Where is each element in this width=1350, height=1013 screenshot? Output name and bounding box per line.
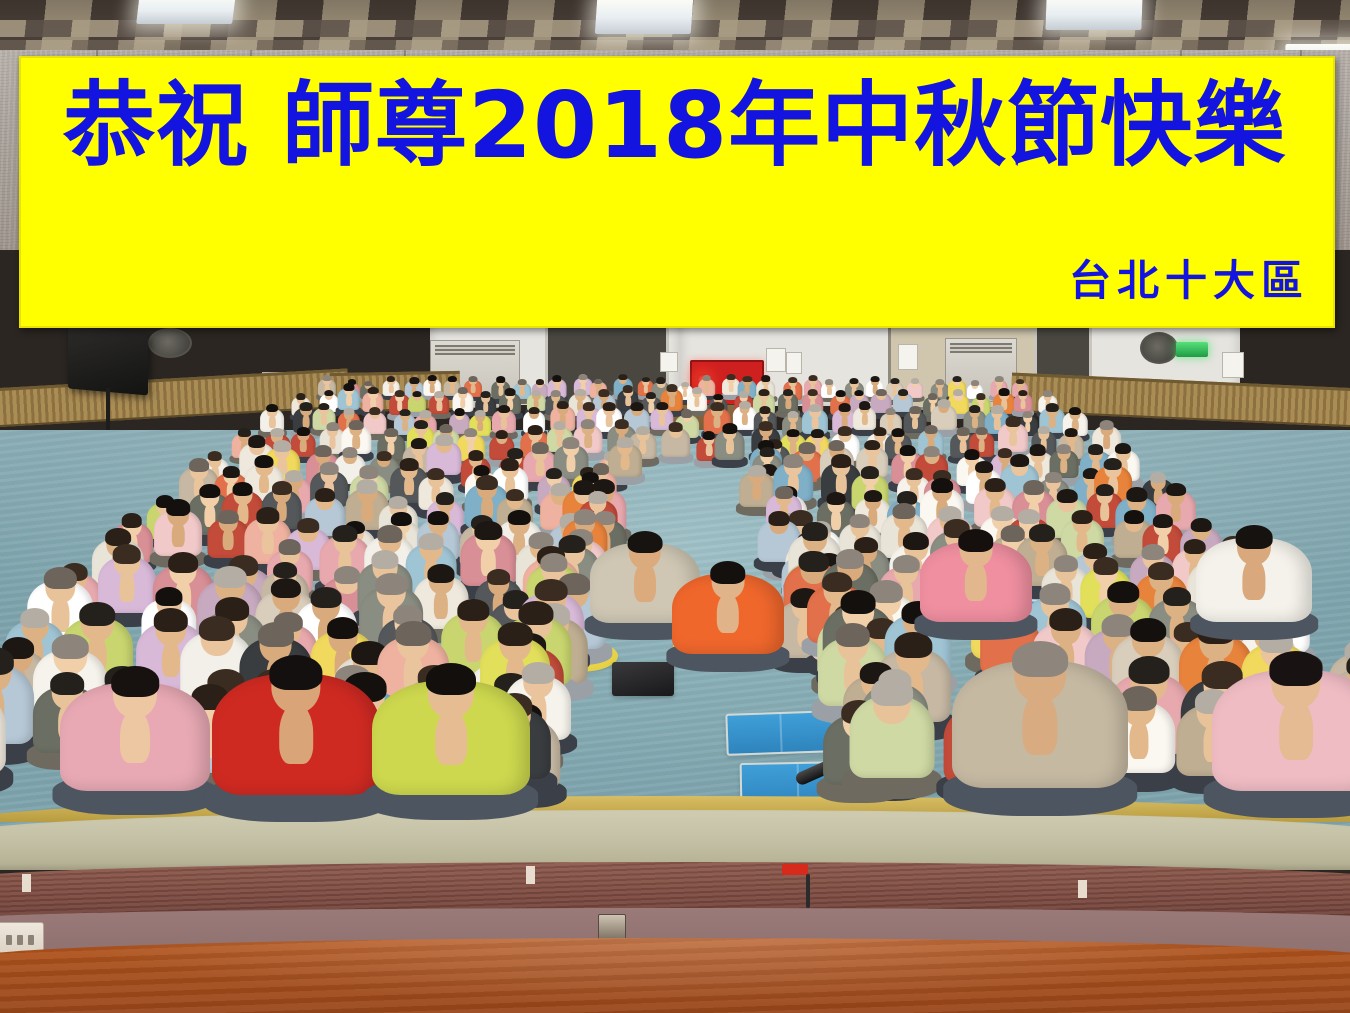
praying-hands xyxy=(706,443,713,457)
person-hair xyxy=(413,391,422,397)
person-hair xyxy=(579,374,588,380)
person-hair xyxy=(864,490,882,502)
person-hair xyxy=(1038,426,1050,435)
person-hair xyxy=(427,564,454,583)
person-hair xyxy=(562,437,579,449)
person-hair xyxy=(893,503,916,519)
person-hair xyxy=(426,663,476,696)
person-hair xyxy=(788,411,799,418)
person-hair xyxy=(436,434,453,446)
person-hair xyxy=(758,389,769,397)
person-hair xyxy=(218,510,238,524)
person-hair xyxy=(1006,416,1021,426)
person-hair xyxy=(536,379,544,385)
person-hair xyxy=(656,402,668,410)
person-hair xyxy=(809,404,822,413)
person-hair xyxy=(898,389,908,396)
person-hair xyxy=(255,455,274,468)
person-hair xyxy=(836,623,871,647)
person-hair xyxy=(937,399,950,408)
person-hair xyxy=(248,435,266,447)
person-hair xyxy=(528,425,542,435)
person-hair xyxy=(850,514,871,528)
person-hair xyxy=(411,438,427,449)
person-hair xyxy=(1012,641,1068,677)
stage-concrete-lip xyxy=(0,810,1350,870)
person-hair xyxy=(783,389,793,396)
praying-hands xyxy=(729,382,734,392)
praying-hands xyxy=(1129,719,1148,759)
person-hair xyxy=(710,561,745,584)
person-hair xyxy=(1065,428,1078,437)
foreground-man-back-view xyxy=(952,631,1128,816)
person-hair xyxy=(761,375,771,382)
person-hair xyxy=(1023,480,1045,495)
person-hair xyxy=(976,393,985,399)
person-seated xyxy=(850,662,935,800)
person-hair xyxy=(357,479,378,494)
person-hair xyxy=(199,616,235,641)
person-hair xyxy=(189,458,209,472)
greeting-banner: 恭祝 師尊2018年中秋節快樂 台北十大區 xyxy=(19,56,1335,328)
person-hair xyxy=(1269,651,1322,686)
person-hair xyxy=(871,376,880,382)
person-hair xyxy=(1054,555,1078,572)
praying-hands xyxy=(965,561,987,601)
person-hair xyxy=(349,420,364,430)
person-hair xyxy=(985,478,1006,492)
person-hair xyxy=(299,402,312,411)
person-hair xyxy=(1029,524,1055,542)
praying-hands xyxy=(279,703,313,763)
person-hair xyxy=(623,385,633,392)
person-hair xyxy=(1166,483,1186,497)
praying-hands xyxy=(1242,558,1265,600)
person-hair xyxy=(496,376,506,383)
person-hair xyxy=(506,489,524,501)
person-hair xyxy=(272,481,292,495)
person-hair xyxy=(1126,487,1147,502)
person-hair xyxy=(400,458,419,471)
power-cord xyxy=(806,874,810,908)
outlet-slot xyxy=(28,935,34,945)
person-hair xyxy=(269,655,322,690)
person-hair xyxy=(827,492,846,505)
person-hair xyxy=(464,428,478,437)
person-hair xyxy=(615,419,629,429)
person-hair xyxy=(999,388,1010,395)
person-hair xyxy=(788,377,798,384)
person-hair xyxy=(876,389,886,396)
person-hair xyxy=(435,391,445,398)
person-hair xyxy=(1017,379,1025,384)
aisle-woman-rose-shirt xyxy=(920,522,1032,640)
person-hair xyxy=(1057,489,1078,503)
person-hair xyxy=(581,419,595,429)
person-hair xyxy=(831,454,851,468)
person-hair xyxy=(1049,608,1082,631)
person-hair xyxy=(394,390,405,397)
person-hair xyxy=(603,402,616,411)
praying-hands xyxy=(120,709,150,763)
person-hair xyxy=(599,389,610,397)
person-hair xyxy=(748,465,766,477)
person-hair xyxy=(583,402,595,411)
person-hair xyxy=(232,482,253,497)
person-hair xyxy=(324,390,333,396)
aisle-woman-orange-shirt xyxy=(672,554,784,672)
person-hair xyxy=(1010,454,1030,468)
person-hair xyxy=(957,427,970,436)
person-hair xyxy=(594,379,602,385)
person-hair xyxy=(1108,581,1140,603)
person-hair xyxy=(899,445,916,456)
person-hair xyxy=(1018,390,1027,396)
person-hair xyxy=(861,466,879,479)
person-hair xyxy=(111,666,159,697)
red-cable-clip xyxy=(782,864,808,875)
person-hair xyxy=(556,401,568,410)
person-hair xyxy=(1069,407,1081,415)
person-hair xyxy=(498,622,532,646)
person-hair xyxy=(168,552,198,573)
person-hair xyxy=(855,390,864,396)
person-hair xyxy=(1130,618,1166,643)
aisle-man-white-shirt xyxy=(1196,518,1312,640)
person-hair xyxy=(410,377,419,383)
banner-subtitle: 台北十大區 xyxy=(1069,247,1309,308)
person-hair xyxy=(969,405,980,413)
person-hair xyxy=(1236,525,1273,549)
person-hair xyxy=(758,421,772,431)
person-hair xyxy=(871,677,913,706)
person-hair xyxy=(931,478,953,493)
person-hair xyxy=(739,401,751,409)
wall-tab xyxy=(22,874,31,892)
person-hair xyxy=(760,406,771,414)
person-hair xyxy=(1099,420,1114,430)
person-hair xyxy=(387,376,395,382)
praying-hands xyxy=(725,437,733,454)
person-hair xyxy=(504,388,515,396)
person-hair xyxy=(1046,403,1059,412)
foreground-man-red-shirt xyxy=(212,645,380,822)
screenshot-root: 恭祝 師尊2018年中秋節快樂 台北十大區 xyxy=(0,0,1350,1013)
person-hair xyxy=(1072,510,1093,524)
person-hair xyxy=(807,389,818,396)
person-hair xyxy=(711,402,724,411)
person-hair xyxy=(952,376,961,382)
person-hair xyxy=(396,621,431,645)
person-hair xyxy=(52,634,89,659)
person-hair xyxy=(838,403,851,412)
person-hair xyxy=(1096,484,1114,497)
foreground-woman-yellow-shirt xyxy=(372,654,530,820)
person-hair xyxy=(668,422,683,432)
person-hair xyxy=(498,405,510,413)
banner-title: 恭祝 師尊2018年中秋節快樂 xyxy=(63,76,1286,175)
person-hair xyxy=(532,390,541,396)
person-hair xyxy=(935,379,944,385)
person-hair xyxy=(256,507,279,523)
person-hair xyxy=(1124,510,1144,524)
person-hair xyxy=(835,390,846,397)
person-hair xyxy=(702,375,711,381)
person-hair xyxy=(575,389,586,397)
person-hair xyxy=(910,406,921,414)
person-hair xyxy=(885,408,896,416)
person-hair xyxy=(376,573,407,595)
praying-hands xyxy=(435,709,467,766)
person-hair xyxy=(971,380,979,385)
person-hair xyxy=(890,378,899,384)
person-hair xyxy=(642,377,650,383)
praying-hands xyxy=(621,452,630,470)
person-hair xyxy=(995,376,1003,382)
person-hair xyxy=(1043,390,1053,397)
person-hair xyxy=(784,454,803,467)
stage-wood-floor xyxy=(0,938,1350,1013)
wall-tab xyxy=(1078,880,1087,898)
person-hair xyxy=(199,484,220,499)
person-hair xyxy=(480,391,491,398)
person-hair xyxy=(743,376,752,382)
person-hair xyxy=(808,375,817,381)
person-hair xyxy=(924,425,937,434)
foreground-woman-back-view xyxy=(1212,641,1350,818)
person-hair xyxy=(1057,444,1071,454)
person-hair xyxy=(476,475,498,490)
person-hair xyxy=(630,402,643,411)
person-hair xyxy=(553,421,566,430)
person-hair xyxy=(923,446,940,458)
person-seated xyxy=(661,416,691,464)
person-hair xyxy=(384,428,398,437)
person-hair xyxy=(722,423,737,434)
person-hair xyxy=(1153,514,1173,528)
person-hair xyxy=(976,427,989,436)
person-hair xyxy=(448,376,456,382)
person-hair xyxy=(315,488,335,502)
praying-hands xyxy=(717,593,739,633)
person-hair xyxy=(475,410,486,417)
person-hair xyxy=(618,374,627,380)
wall-tab xyxy=(526,866,535,884)
person-hair xyxy=(368,387,379,394)
person-torso xyxy=(0,692,6,773)
person-hair xyxy=(475,521,502,540)
person-hair xyxy=(892,428,905,437)
person-hair xyxy=(727,374,736,380)
person-hair xyxy=(628,531,663,554)
person-hair xyxy=(322,375,331,381)
person-hair xyxy=(617,437,634,449)
person-hair xyxy=(692,387,702,394)
person-hair xyxy=(428,375,437,381)
person-hair xyxy=(802,522,828,540)
person-hair xyxy=(427,468,444,480)
person-hair xyxy=(419,533,444,550)
foreground-woman-pink xyxy=(60,657,210,815)
person-hair xyxy=(666,384,677,392)
outlet-slot xyxy=(6,935,12,945)
outlet-slot xyxy=(17,935,23,945)
person-hair xyxy=(166,499,190,515)
praying-hands xyxy=(1022,692,1057,755)
person-hair xyxy=(958,529,993,552)
person-hair xyxy=(332,525,357,542)
person-hair xyxy=(454,408,465,415)
praying-hands xyxy=(437,400,442,411)
person-hair xyxy=(775,486,793,498)
person-hair xyxy=(528,407,539,414)
person-hair xyxy=(469,376,478,382)
person-hair xyxy=(44,567,76,589)
person-hair xyxy=(343,383,354,391)
person-hair xyxy=(865,440,881,451)
person-hair xyxy=(112,544,141,564)
person-hair xyxy=(258,622,294,647)
person-hair xyxy=(326,422,339,431)
praying-hands xyxy=(634,562,656,602)
person-hair xyxy=(1104,458,1123,471)
person-hair xyxy=(859,401,871,409)
person-hair xyxy=(911,378,919,384)
person-hair xyxy=(760,447,775,457)
person-hair xyxy=(850,378,859,384)
person-hair xyxy=(320,462,339,475)
person-seated xyxy=(0,658,6,795)
praying-hands xyxy=(753,481,762,500)
person-hair xyxy=(458,387,468,394)
person-hair xyxy=(267,404,279,412)
person-hair xyxy=(318,403,329,411)
person-hair xyxy=(496,430,509,439)
praying-hands xyxy=(1279,699,1313,759)
person-hair xyxy=(1163,587,1191,606)
person-hair xyxy=(532,442,549,453)
person-hair xyxy=(825,379,833,384)
